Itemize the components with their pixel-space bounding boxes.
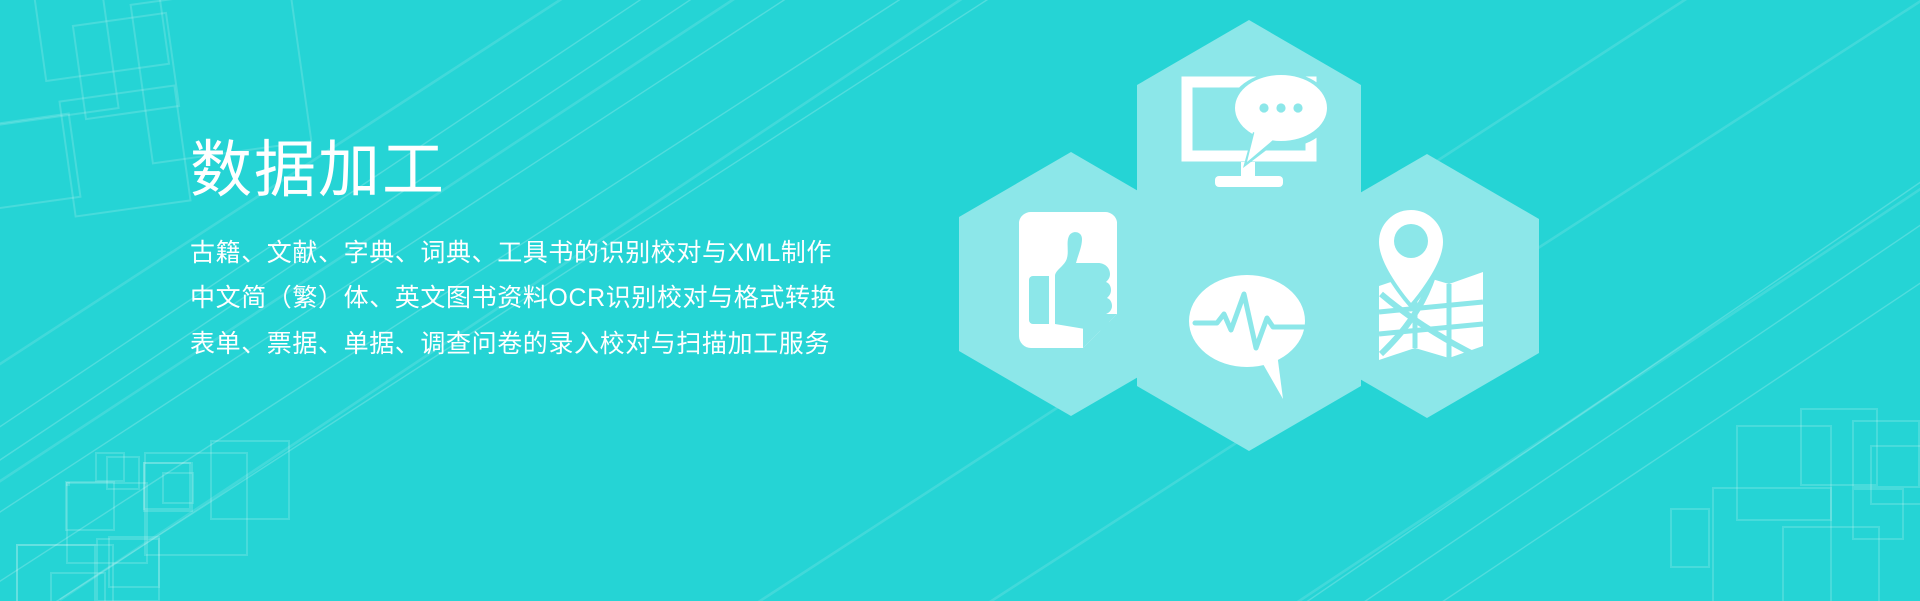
thumbs-up-document-icon (1019, 212, 1117, 348)
hexagon-heartbeat-chat[interactable] (1133, 185, 1365, 453)
list-item: 表单、票据、单据、调查问卷的录入校对与扫描加工服务 (190, 322, 990, 368)
hero-text-block: 数据加工 古籍、文献、字典、词典、工具书的识别校对与XML制作 中文简（繁）体、… (190, 138, 990, 367)
list-item: 古籍、文献、字典、词典、工具书的识别校对与XML制作 (190, 231, 990, 277)
page-title: 数据加工 (190, 138, 990, 205)
service-description-list: 古籍、文献、字典、词典、工具书的识别校对与XML制作 中文简（繁）体、英文图书资… (190, 231, 990, 368)
hexagon-icon-cluster (955, 0, 1615, 460)
banner-hero: 数据加工 古籍、文献、字典、词典、工具书的识别校对与XML制作 中文简（繁）体、… (0, 0, 1920, 601)
list-item: 中文简（繁）体、英文图书资料OCR识别校对与格式转换 (190, 276, 990, 322)
